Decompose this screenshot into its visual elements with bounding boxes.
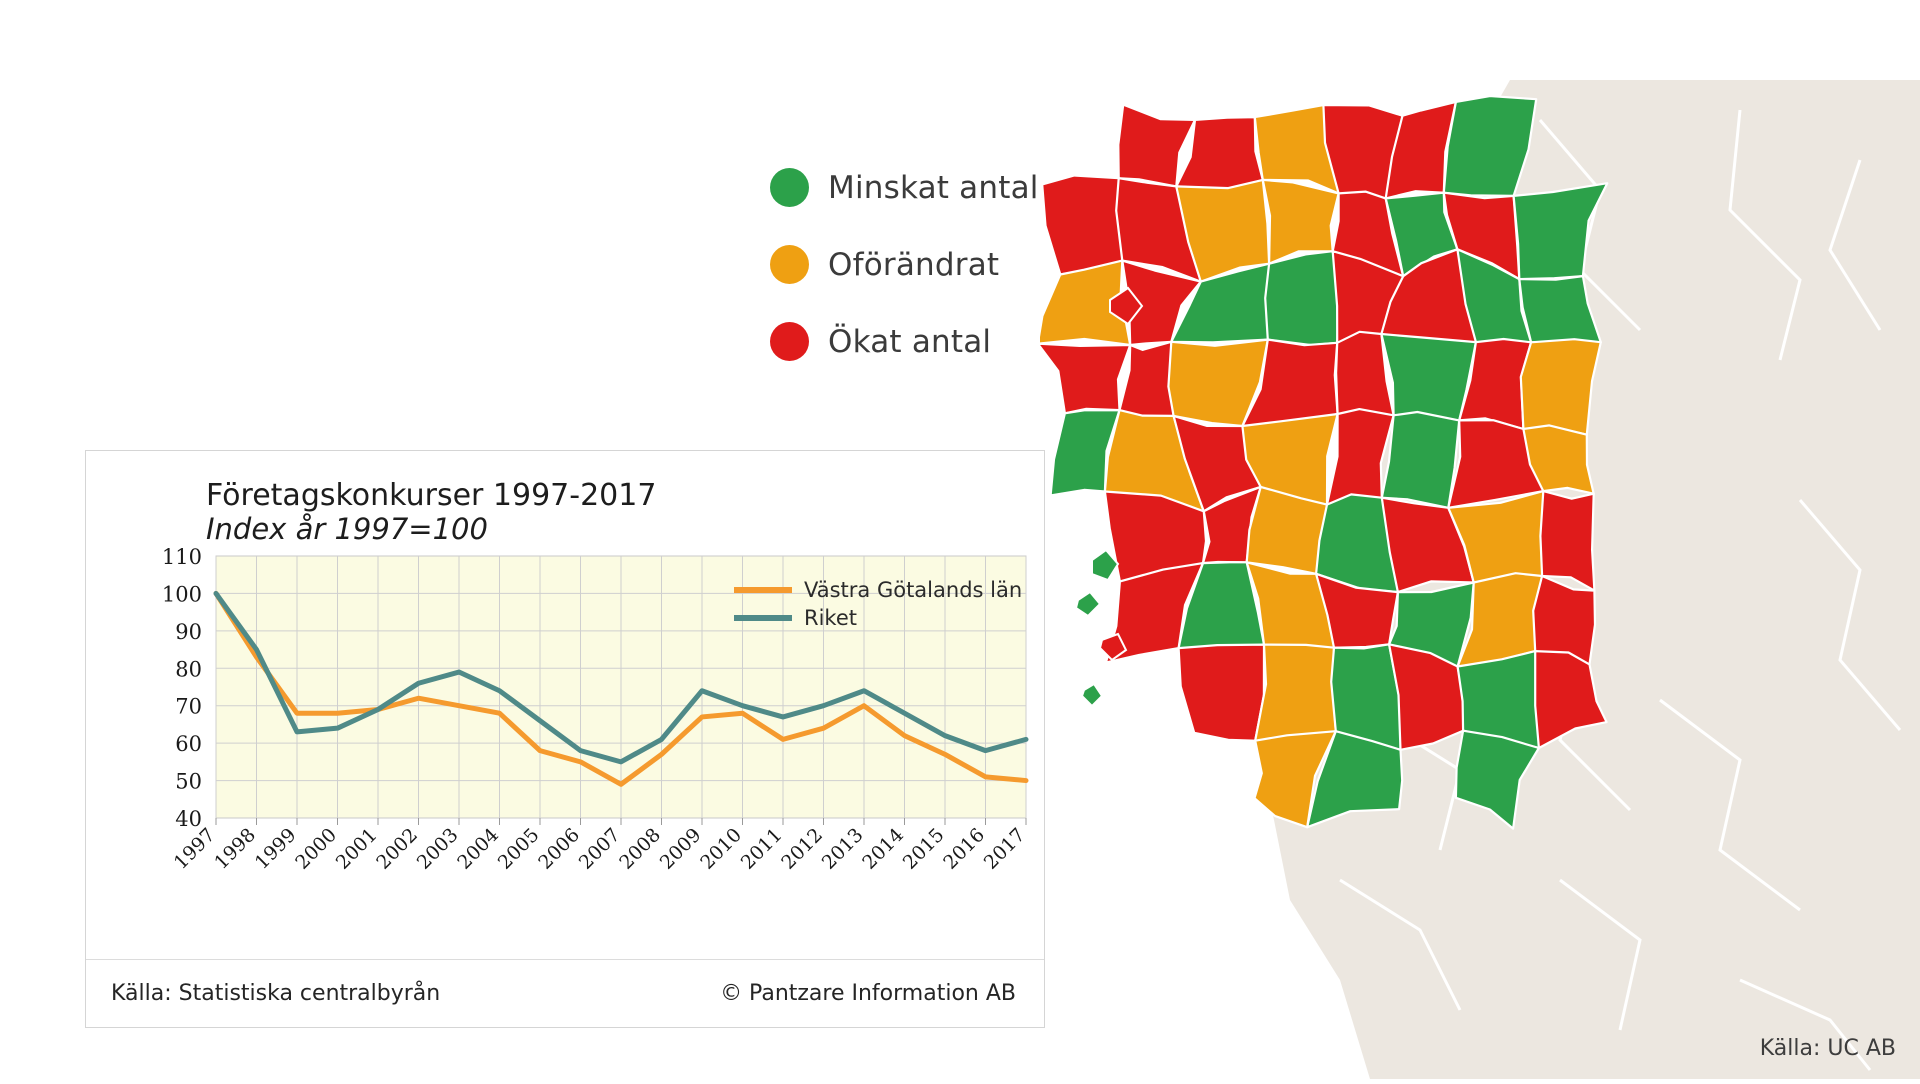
chart-title-block: Företagskonkurser 1997-2017 Index år 199… (206, 479, 656, 546)
circle-icon-red (770, 322, 809, 361)
legend-label-okat: Ökat antal (828, 324, 991, 360)
map-region-orange[interactable] (1521, 339, 1601, 435)
legend-item-okat: Ökat antal (770, 322, 1039, 361)
map-region-red[interactable] (1042, 176, 1124, 275)
y-axis-tick-label: 80 (175, 657, 202, 681)
map-legend: Minskat antal Oförändrat Ökat antal (770, 168, 1039, 361)
map-region-red[interactable] (1179, 645, 1264, 741)
y-axis-tick-label: 110 (162, 546, 202, 569)
map-svg (1040, 0, 1920, 1079)
x-axis-tick-label: 2015 (899, 824, 949, 874)
map-region-island-green[interactable] (1082, 684, 1102, 706)
x-axis-tick-label: 2009 (656, 824, 706, 874)
chart-footer: Källa: Statistiska centralbyrån © Pantza… (86, 959, 1044, 1027)
legend-label-minskat: Minskat antal (828, 170, 1039, 206)
x-axis-tick-labels: 1997199819992000200120022003200420052006… (170, 824, 1030, 874)
x-axis-tick-label: 2013 (818, 824, 868, 874)
series-legend-label: Västra Götalands län (804, 578, 1022, 602)
x-axis-tick-label: 2010 (696, 824, 746, 874)
x-axis-tick-label: 2002 (372, 824, 422, 874)
x-axis-tick-label: 2007 (575, 824, 625, 874)
x-axis-tick-label: 2017 (980, 824, 1030, 874)
choropleth-map: Källa: UC AB (1040, 0, 1920, 1079)
x-axis-tick-label: 2005 (494, 824, 544, 874)
y-axis-tick-label: 70 (175, 695, 202, 719)
map-region-orange[interactable] (1255, 645, 1336, 743)
x-axis-tick-label: 2000 (291, 824, 341, 874)
map-region-green[interactable] (1265, 251, 1339, 345)
chart-copyright-label: © Pantzare Information AB (720, 981, 1016, 1006)
chart-title: Företagskonkurser 1997-2017 (206, 479, 656, 513)
chart-panel: Företagskonkurser 1997-2017 Index år 199… (85, 450, 1045, 1028)
x-axis-tick-label: 1997 (170, 824, 220, 874)
x-axis-tick-label: 1998 (210, 824, 260, 874)
chart-plot-area: 405060708090100110 199719981999200020012… (86, 546, 1046, 936)
x-axis-tick-label: 2008 (615, 824, 665, 874)
map-region-red[interactable] (1540, 491, 1594, 590)
x-axis-tick-label: 2012 (777, 824, 827, 874)
chart-subtitle: Index år 1997=100 (206, 513, 656, 546)
x-axis-tick-label: 1999 (251, 824, 301, 874)
map-source-label: Källa: UC AB (1760, 1036, 1896, 1061)
x-axis-tick-label: 2016 (939, 824, 989, 874)
series-legend-label: Riket (804, 606, 857, 630)
x-axis-tick-label: 2004 (453, 824, 503, 874)
circle-icon-orange (770, 245, 809, 284)
legend-item-minskat: Minskat antal (770, 168, 1039, 207)
x-axis-tick-label: 2011 (737, 824, 787, 874)
y-axis-tick-label: 100 (162, 582, 202, 606)
x-axis-tick-label: 2014 (858, 824, 908, 874)
y-axis-tick-labels: 405060708090100110 (162, 546, 202, 831)
map-region-group (1040, 96, 1607, 829)
map-region-red[interactable] (1040, 344, 1130, 414)
map-region-island-green[interactable] (1076, 592, 1100, 616)
y-axis-tick-label: 90 (175, 620, 202, 644)
y-axis-tick-label: 50 (175, 770, 202, 794)
circle-icon-green (770, 168, 809, 207)
line-chart-svg: 405060708090100110 199719981999200020012… (86, 546, 1046, 936)
y-axis-tick-label: 40 (175, 807, 202, 831)
legend-item-oforandrat: Oförändrat (770, 245, 1039, 284)
x-axis-tick-label: 2001 (332, 824, 382, 874)
legend-label-oforandrat: Oförändrat (828, 247, 999, 283)
x-axis-tick-label: 2006 (534, 824, 584, 874)
x-axis-tick-label: 2003 (413, 824, 463, 874)
chart-source-label: Källa: Statistiska centralbyrån (111, 981, 440, 1006)
y-axis-tick-label: 60 (175, 732, 202, 756)
map-region-green[interactable] (1382, 412, 1459, 508)
